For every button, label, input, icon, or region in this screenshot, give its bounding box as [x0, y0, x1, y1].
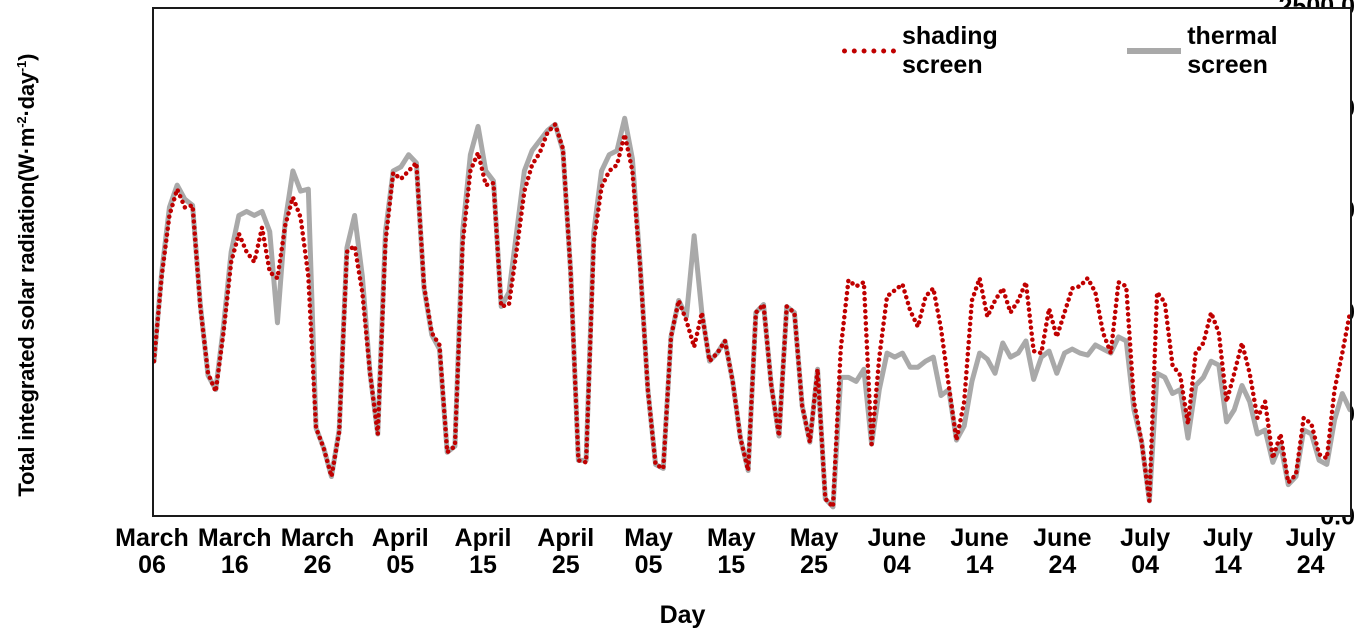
- plot-area: [152, 7, 1352, 517]
- x-tick-day: 24: [1251, 552, 1365, 579]
- thermal-screen-series: [154, 118, 1350, 507]
- legend-label-thermal-screen: thermal screen: [1187, 22, 1365, 80]
- legend-item-shading-screen: shading screen: [842, 22, 1085, 80]
- x-axis-title: Day: [0, 601, 1365, 630]
- series-canvas: [154, 9, 1350, 515]
- solid-line-icon: [1127, 44, 1181, 58]
- y-axis-title: Total integrated solar radiation(W·m-2·d…: [14, 10, 40, 540]
- y-axis-title-prefix: Total integrated solar radiation(W·m: [14, 128, 39, 497]
- chart-legend: shading screen thermal screen: [842, 22, 1365, 80]
- y-axis-title-mid: ·day: [14, 72, 39, 116]
- legend-item-thermal-screen: thermal screen: [1127, 22, 1365, 80]
- y-axis-title-sup1: -2: [14, 117, 29, 128]
- legend-label-shading-screen: shading screen: [902, 22, 1085, 80]
- y-axis-title-sup2: -1: [14, 61, 29, 72]
- shading-screen-series: [154, 124, 1350, 507]
- x-axis-tick-july-24: July24: [1251, 525, 1365, 578]
- x-tick-month: July: [1251, 525, 1365, 552]
- solar-radiation-chart: Total integrated solar radiation(W·m-2·d…: [0, 0, 1365, 644]
- y-axis-title-suffix: ): [14, 54, 39, 61]
- dotted-line-icon: [842, 44, 896, 58]
